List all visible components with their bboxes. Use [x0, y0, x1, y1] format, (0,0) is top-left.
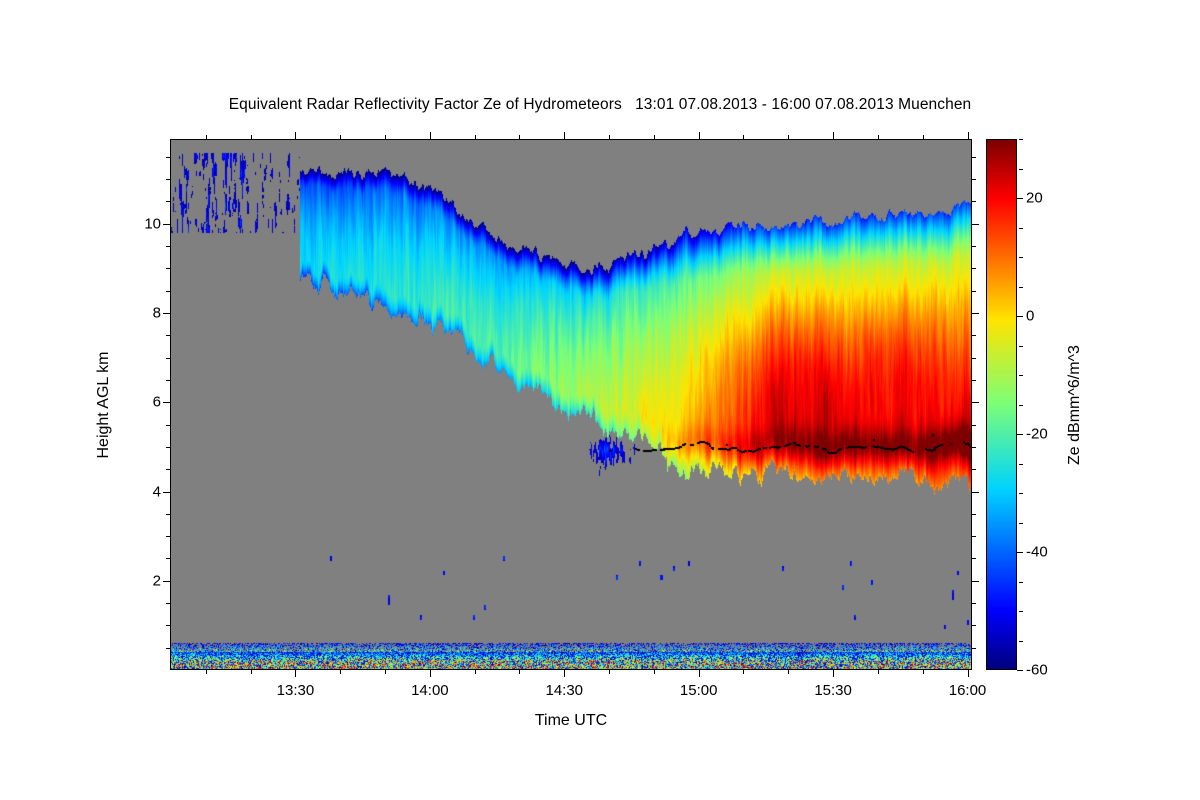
x-tick-mark-top — [519, 135, 520, 139]
colorbar-tick-mark — [1019, 287, 1023, 288]
y-tick-mark — [166, 358, 170, 359]
x-tick-mark — [385, 670, 386, 674]
y-tick-mark-right — [972, 447, 976, 448]
x-tick-label: 14:00 — [411, 682, 449, 699]
x-tick-mark — [968, 670, 969, 677]
y-tick-mark-right — [972, 402, 979, 403]
x-tick-mark — [340, 670, 341, 674]
y-tick-mark-right — [972, 492, 979, 493]
x-tick-mark-top — [788, 135, 789, 139]
y-tick-mark — [166, 625, 170, 626]
x-tick-label: 16:00 — [949, 682, 987, 699]
y-tick-mark-right — [972, 224, 979, 225]
y-tick-mark — [166, 425, 170, 426]
y-tick-mark-right — [972, 335, 976, 336]
y-tick-mark — [166, 201, 170, 202]
x-tick-mark — [519, 670, 520, 674]
colorbar[interactable]: 200-20-40-60 — [986, 139, 1017, 670]
x-tick-mark — [206, 670, 207, 674]
x-tick-label: 15:00 — [680, 682, 718, 699]
y-tick-mark — [166, 469, 170, 470]
x-tick-mark-top — [743, 135, 744, 139]
x-tick-mark — [833, 670, 834, 677]
x-tick-mark — [251, 670, 252, 674]
y-tick-mark-right — [972, 536, 976, 537]
y-tick-mark-right — [972, 469, 976, 470]
x-tick-mark-top — [878, 135, 879, 139]
x-tick-mark-top — [295, 132, 296, 139]
colorbar-tick-mark — [1019, 523, 1023, 524]
y-tick-mark — [166, 291, 170, 292]
x-tick-mark — [295, 670, 296, 677]
x-tick-mark — [788, 670, 789, 674]
x-tick-mark-top — [833, 132, 834, 139]
y-tick-mark-right — [972, 157, 976, 158]
y-tick-mark — [166, 536, 170, 537]
y-tick-mark-right — [972, 291, 976, 292]
x-tick-mark-top — [609, 135, 610, 139]
y-tick-mark — [166, 179, 170, 180]
y-tick-mark — [166, 447, 170, 448]
y-tick-mark-right — [972, 380, 976, 381]
x-tick-mark — [430, 670, 431, 677]
x-tick-mark-top — [475, 135, 476, 139]
x-tick-mark-top — [206, 135, 207, 139]
y-tick-mark-right — [972, 358, 976, 359]
colorbar-tick-mark — [1017, 198, 1023, 199]
y-axis-label: Height AGL km — [95, 351, 113, 458]
figure-canvas: Equivalent Radar Reflectivity Factor Ze … — [0, 0, 1200, 800]
colorbar-tick-label: 0 — [1026, 308, 1034, 325]
plot-area: 246810 13:3014:0014:3015:0015:3016:00 — [170, 139, 972, 670]
x-tick-mark-top — [923, 135, 924, 139]
colorbar-tick-mark — [1019, 464, 1023, 465]
y-tick-mark — [166, 603, 170, 604]
colorbar-tick-mark — [1019, 139, 1023, 140]
x-tick-mark-top — [251, 135, 252, 139]
x-tick-mark — [564, 670, 565, 677]
colorbar-tick-mark — [1019, 169, 1023, 170]
y-tick-label: 6 — [153, 394, 161, 411]
y-tick-mark — [163, 224, 170, 225]
x-tick-mark-top — [654, 135, 655, 139]
y-tick-mark — [163, 581, 170, 582]
y-tick-mark — [166, 246, 170, 247]
y-tick-mark — [163, 313, 170, 314]
colorbar-tick-mark — [1019, 582, 1023, 583]
x-tick-mark — [654, 670, 655, 674]
colorbar-tick-label: 20 — [1026, 190, 1043, 207]
y-tick-mark-right — [972, 603, 976, 604]
y-tick-mark-right — [972, 648, 976, 649]
y-tick-label: 8 — [153, 305, 161, 322]
heatmap-surface[interactable] — [170, 139, 972, 670]
x-tick-mark — [743, 670, 744, 674]
colorbar-tick-label: -20 — [1026, 426, 1048, 443]
colorbar-tick-mark — [1017, 316, 1023, 317]
colorbar-tick-mark — [1019, 257, 1023, 258]
y-tick-mark — [166, 157, 170, 158]
y-tick-label: 2 — [153, 572, 161, 589]
y-tick-mark-right — [972, 268, 976, 269]
x-axis-label: Time UTC — [535, 712, 607, 730]
colorbar-gradient — [986, 139, 1017, 670]
colorbar-tick-mark — [1019, 493, 1023, 494]
y-tick-mark-right — [972, 246, 976, 247]
y-tick-mark-right — [972, 313, 979, 314]
colorbar-tick-mark — [1017, 434, 1023, 435]
y-tick-mark-right — [972, 625, 976, 626]
y-tick-mark-right — [972, 425, 976, 426]
y-tick-mark — [166, 268, 170, 269]
y-tick-mark — [163, 492, 170, 493]
y-tick-mark-right — [972, 514, 976, 515]
x-tick-mark — [475, 670, 476, 674]
x-tick-mark-top — [340, 135, 341, 139]
y-tick-mark — [166, 558, 170, 559]
colorbar-tick-mark — [1019, 611, 1023, 612]
y-tick-mark — [163, 402, 170, 403]
colorbar-tick-mark — [1017, 670, 1023, 671]
y-tick-mark-right — [972, 179, 976, 180]
x-tick-mark — [609, 670, 610, 674]
y-tick-mark-right — [972, 581, 979, 582]
colorbar-tick-mark — [1019, 375, 1023, 376]
x-tick-mark — [699, 670, 700, 677]
y-tick-label: 4 — [153, 483, 161, 500]
x-tick-mark-top — [564, 132, 565, 139]
x-tick-mark — [923, 670, 924, 674]
x-tick-label: 13:30 — [277, 682, 315, 699]
colorbar-tick-label: -60 — [1026, 662, 1048, 679]
chart-title: Equivalent Radar Reflectivity Factor Ze … — [0, 96, 1200, 114]
y-tick-mark — [166, 380, 170, 381]
x-tick-mark — [878, 670, 879, 674]
y-tick-mark — [166, 335, 170, 336]
colorbar-tick-mark — [1019, 228, 1023, 229]
x-tick-mark-top — [385, 135, 386, 139]
x-tick-label: 15:30 — [814, 682, 852, 699]
colorbar-tick-mark — [1017, 552, 1023, 553]
y-tick-mark-right — [972, 201, 976, 202]
colorbar-tick-mark — [1019, 641, 1023, 642]
x-tick-mark-top — [430, 132, 431, 139]
colorbar-label: Ze dBmm^6/m^3 — [1066, 345, 1084, 465]
y-tick-mark-right — [972, 558, 976, 559]
y-tick-label: 10 — [144, 215, 161, 232]
x-tick-mark-top — [968, 132, 969, 139]
y-tick-mark — [166, 648, 170, 649]
x-tick-mark-top — [699, 132, 700, 139]
colorbar-tick-mark — [1019, 405, 1023, 406]
y-tick-mark — [166, 514, 170, 515]
x-tick-label: 14:30 — [545, 682, 583, 699]
colorbar-tick-mark — [1019, 346, 1023, 347]
colorbar-tick-label: -40 — [1026, 544, 1048, 561]
